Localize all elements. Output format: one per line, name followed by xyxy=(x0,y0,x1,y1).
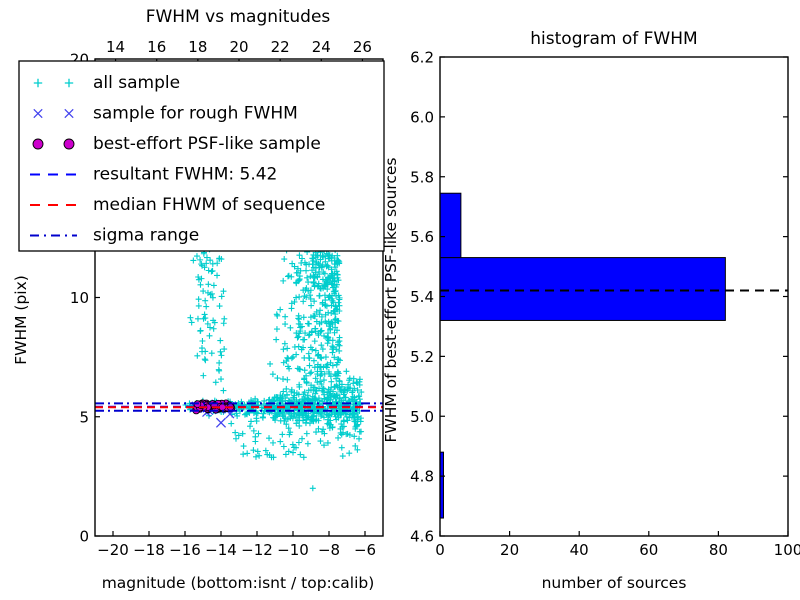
right-y-tick-label: 6.0 xyxy=(410,108,434,126)
right-x-tick-label: 40 xyxy=(570,541,589,559)
left-x-tick-label: −18 xyxy=(133,541,165,559)
legend-box xyxy=(19,61,384,251)
left-top-tick-label: 22 xyxy=(271,38,290,56)
left-x-tick-label: −16 xyxy=(169,541,201,559)
left-x-tick-label: −20 xyxy=(97,541,129,559)
left-top-tick-label: 16 xyxy=(147,38,166,56)
right-x-tick-label: 0 xyxy=(435,541,445,559)
legend-label: resultant FWHM: 5.42 xyxy=(93,165,277,185)
figure-canvas: −20−18−16−14−12−10−8−6141618202224260510… xyxy=(0,0,800,600)
right-plot-title: histogram of FWHM xyxy=(530,29,697,49)
left-x-tick-label: −8 xyxy=(318,541,340,559)
legend-label: median FHWM of sequence xyxy=(93,195,325,215)
right-x-tick-label: 20 xyxy=(500,541,519,559)
right-x-tick-label: 100 xyxy=(774,541,800,559)
legend-label: sigma range xyxy=(93,226,199,246)
left-plot-title: FWHM vs magnitudes xyxy=(146,7,331,27)
right-y-axis-label: FWHM of best-effort PSF-like sources xyxy=(382,157,400,442)
right-x-axis-label: number of sources xyxy=(542,574,687,592)
right-y-tick-label: 5.4 xyxy=(410,288,434,306)
legend: all samplesample for rough FWHMbest-effo… xyxy=(19,61,384,251)
right-y-tick-label: 6.2 xyxy=(410,49,434,67)
matplotlib-figure: −20−18−16−14−12−10−8−6141618202224260510… xyxy=(0,0,800,600)
right-y-tick-label: 4.6 xyxy=(410,528,434,546)
legend-label: sample for rough FWHM xyxy=(93,104,298,124)
legend-label: best-effort PSF-like sample xyxy=(93,134,321,154)
right-y-tick-label: 5.2 xyxy=(410,348,434,366)
left-top-tick-label: 20 xyxy=(229,38,248,56)
left-y-tick-label: 0 xyxy=(79,528,89,546)
histogram-bar xyxy=(440,258,725,321)
left-top-tick-label: 24 xyxy=(312,38,331,56)
legend-label: all sample xyxy=(93,73,180,93)
left-top-tick-label: 14 xyxy=(106,38,125,56)
histogram-bar xyxy=(440,193,461,257)
left-y-axis-label: FWHM (pix) xyxy=(12,275,30,365)
left-top-tick-label: 26 xyxy=(353,38,372,56)
right-x-tick-label: 80 xyxy=(709,541,728,559)
left-x-tick-label: −14 xyxy=(205,541,237,559)
left-x-tick-label: −10 xyxy=(277,541,309,559)
right-x-tick-label: 60 xyxy=(639,541,658,559)
right-y-tick-label: 5.8 xyxy=(410,168,434,186)
right-y-tick-label: 5.0 xyxy=(410,408,434,426)
left-x-tick-label: −12 xyxy=(241,541,273,559)
left-top-tick-label: 18 xyxy=(188,38,207,56)
left-y-tick-label: 5 xyxy=(79,408,89,426)
right-y-tick-label: 5.6 xyxy=(410,228,434,246)
left-x-axis-label: magnitude (bottom:isnt / top:calib) xyxy=(102,574,375,592)
left-x-tick-label: −6 xyxy=(354,541,376,559)
right-y-tick-label: 4.8 xyxy=(410,468,434,486)
left-y-tick-label: 10 xyxy=(70,289,89,307)
